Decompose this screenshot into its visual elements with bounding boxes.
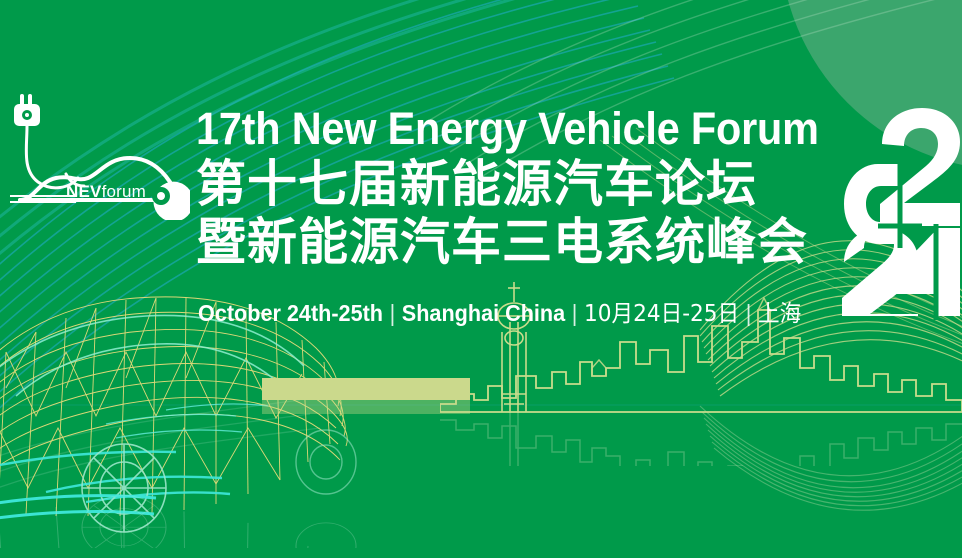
event-info-line: October 24th-25th|Shanghai China|10月24日-… <box>198 300 801 327</box>
title-english: 17th New Energy Vehicle Forum <box>196 104 785 154</box>
logo-wordmark: NEVforum <box>66 182 146 202</box>
event-date-cn: 10月24日-25日 <box>584 301 739 327</box>
event-poster: NEVforum 17th New Energy Vehicle Forum 第… <box>0 0 962 558</box>
title-block: 17th New Energy Vehicle Forum 第十七届新能源汽车论… <box>196 104 836 270</box>
event-location-cn: 上海 <box>758 301 801 327</box>
event-date-en: October 24th-25th <box>198 300 383 326</box>
title-chinese-line2: 暨新能源汽车三电系统峰会 <box>196 214 836 270</box>
logo-wordmark-light: forum <box>102 182 146 201</box>
separator-3: | <box>739 300 758 326</box>
title-chinese-line1: 第十七届新能源汽车论坛 <box>196 156 836 212</box>
event-location-en: Shanghai China <box>402 300 565 326</box>
wireframe-car-illustration <box>0 248 416 548</box>
year-2024-graphic <box>842 104 962 320</box>
logo-wordmark-bold: NEV <box>66 182 102 201</box>
accent-bar <box>262 378 470 416</box>
separator-2: | <box>565 300 584 326</box>
separator-1: | <box>383 300 402 326</box>
